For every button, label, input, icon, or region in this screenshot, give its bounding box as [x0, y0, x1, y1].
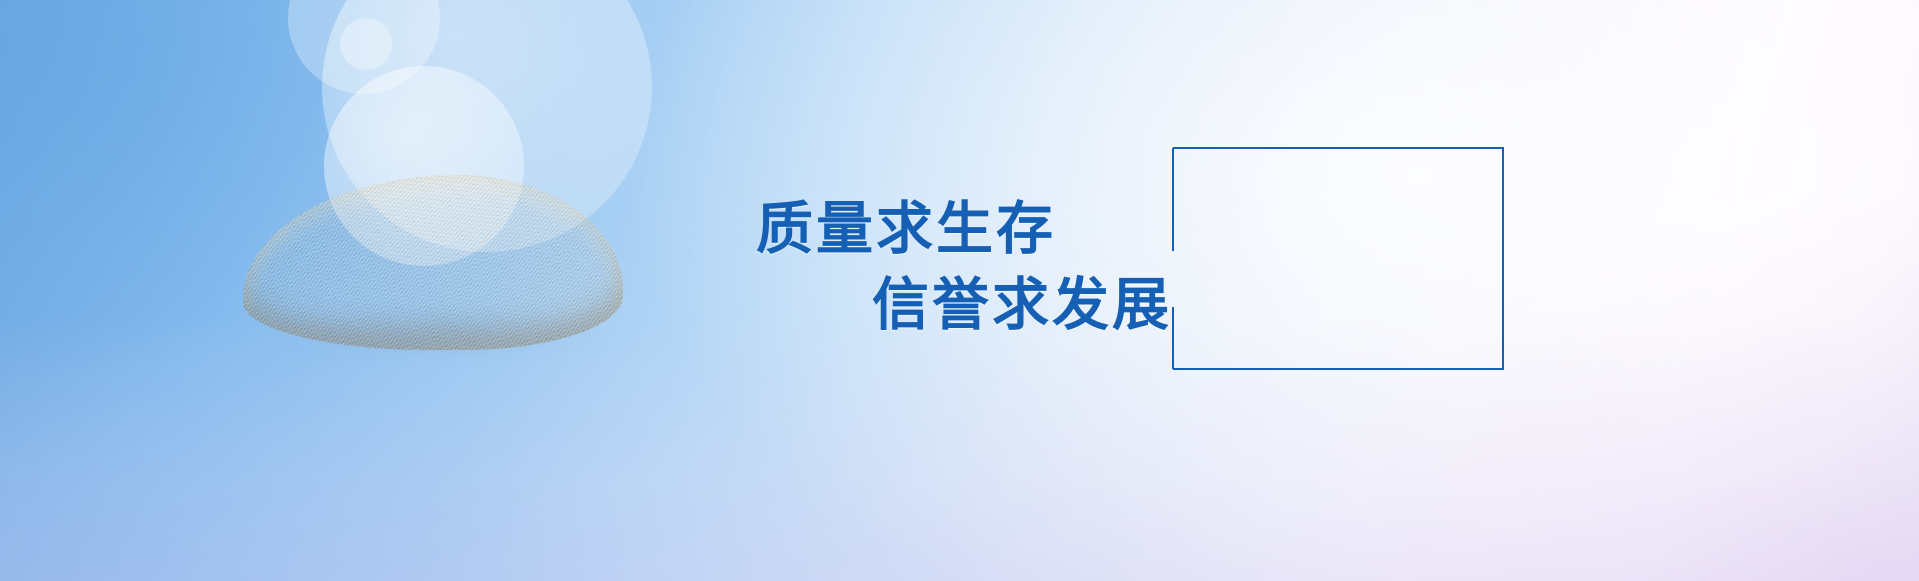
headline-block: 质量求生存 信誉求发展 — [756, 192, 1276, 344]
sand-pile-grain-light — [243, 175, 623, 350]
headline-line-2: 信誉求发展 — [872, 268, 1276, 344]
sand-pile-body — [243, 175, 623, 350]
hero-banner: 质量求生存 信誉求发展 — [0, 0, 1919, 581]
product-sand-pile-image — [243, 175, 623, 350]
headline-line-1: 质量求生存 — [756, 192, 1276, 268]
